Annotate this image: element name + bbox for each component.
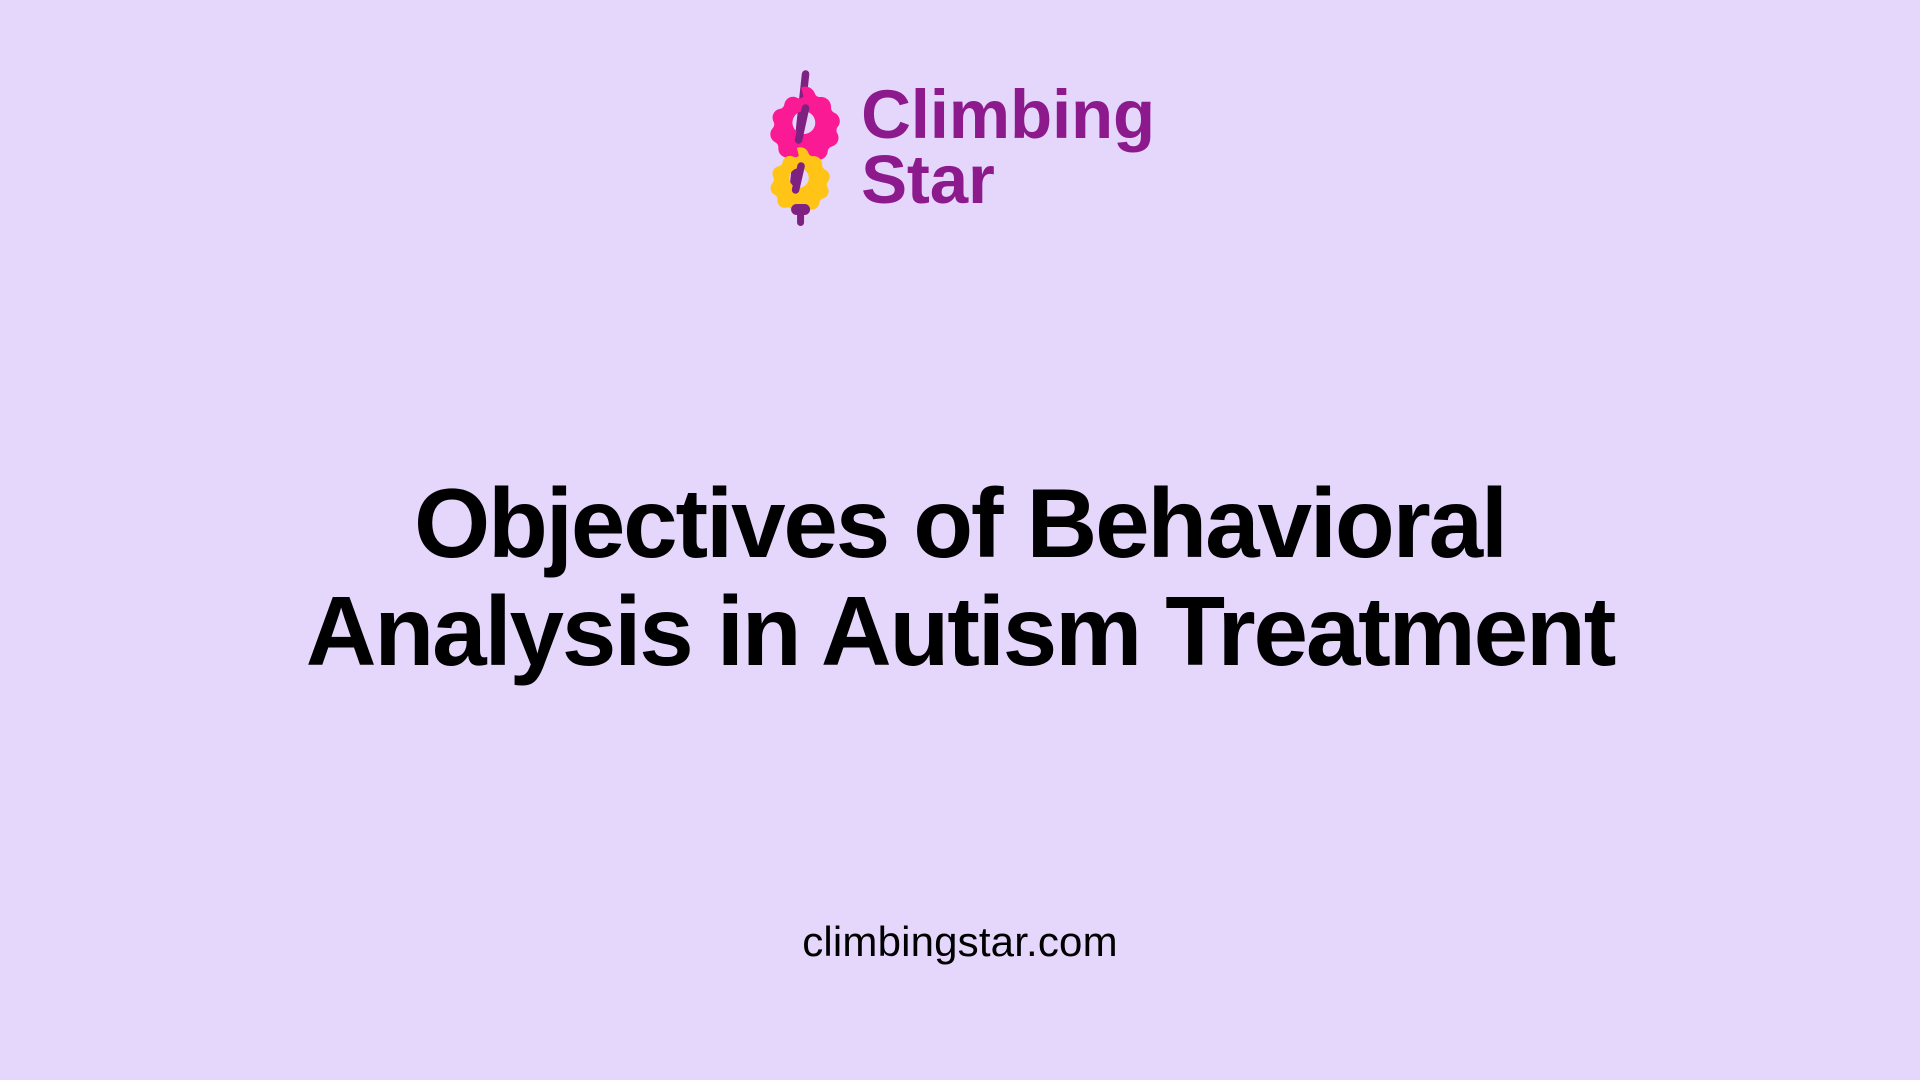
brand-wordmark-line-2: Star: [861, 148, 1155, 213]
brand-wordmark-line-1: Climbing: [861, 83, 1155, 148]
page-title-line-2: Analysis in Autism Treatment: [120, 578, 1800, 686]
footer-website-url: climbingstar.com: [0, 918, 1920, 966]
brand-wordmark: Climbing Star: [861, 83, 1155, 213]
share-card: Climbing Star Objectives of Behavioral A…: [0, 0, 1920, 1080]
page-title: Objectives of Behavioral Analysis in Aut…: [0, 470, 1920, 686]
stem-anchor-foot: [791, 204, 810, 226]
climbing-star-flower-mark-icon: [765, 68, 843, 228]
page-title-line-1: Objectives of Behavioral: [120, 470, 1800, 578]
brand-lockup: Climbing Star: [765, 68, 1155, 228]
